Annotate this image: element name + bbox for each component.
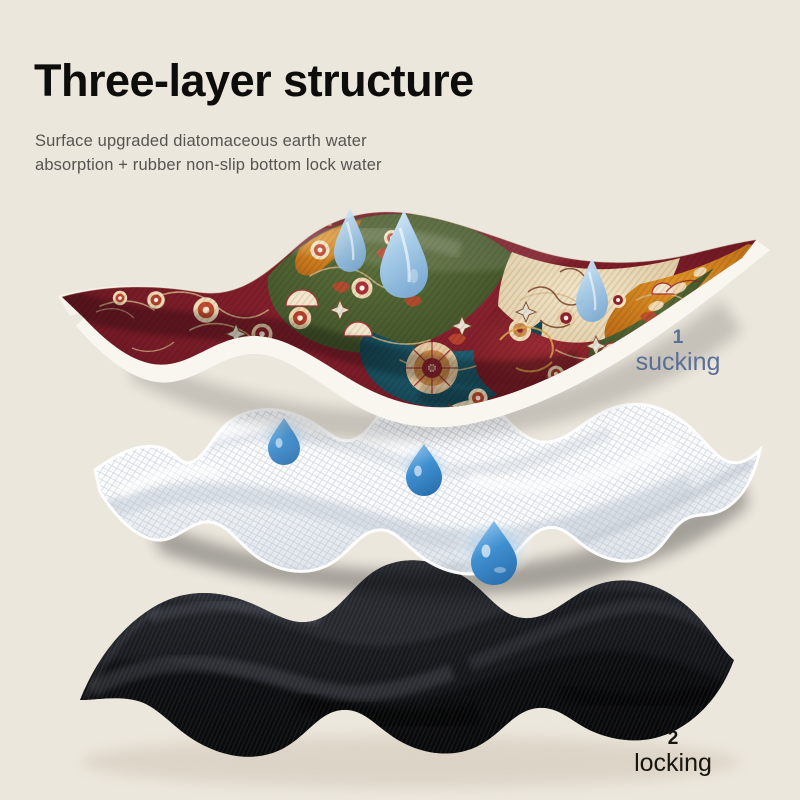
page-subtitle: Surface upgraded diatomaceous earth wate… xyxy=(35,130,382,178)
product-layer-illustration xyxy=(0,0,800,800)
callout-locking-label: locking xyxy=(608,749,738,777)
water-droplet-mesh-2 xyxy=(392,441,456,496)
carpet-layer-droplets xyxy=(334,208,608,322)
middle-mesh-layer xyxy=(70,370,790,600)
callout-sucking-label: sucking xyxy=(613,348,743,376)
rug-rosettes xyxy=(96,213,718,428)
water-droplet-carpet-2 xyxy=(380,210,428,298)
top-carpet-layer xyxy=(40,180,800,441)
water-droplet-carpet-3 xyxy=(576,258,608,322)
water-droplet-mesh-3 xyxy=(452,516,536,585)
water-droplet-carpet-1 xyxy=(334,208,366,272)
page-title: Three-layer structure xyxy=(34,58,474,103)
callout-sucking-number: 1 xyxy=(613,327,743,348)
infographic-page: Three-layer structure Surface upgraded d… xyxy=(0,0,800,800)
water-droplet-mesh-1 xyxy=(254,414,314,465)
mesh-layer-droplets xyxy=(254,414,536,585)
callout-sucking: 1 sucking xyxy=(613,327,743,376)
callout-locking: 2 locking xyxy=(608,728,738,777)
callout-locking-number: 2 xyxy=(608,728,738,749)
